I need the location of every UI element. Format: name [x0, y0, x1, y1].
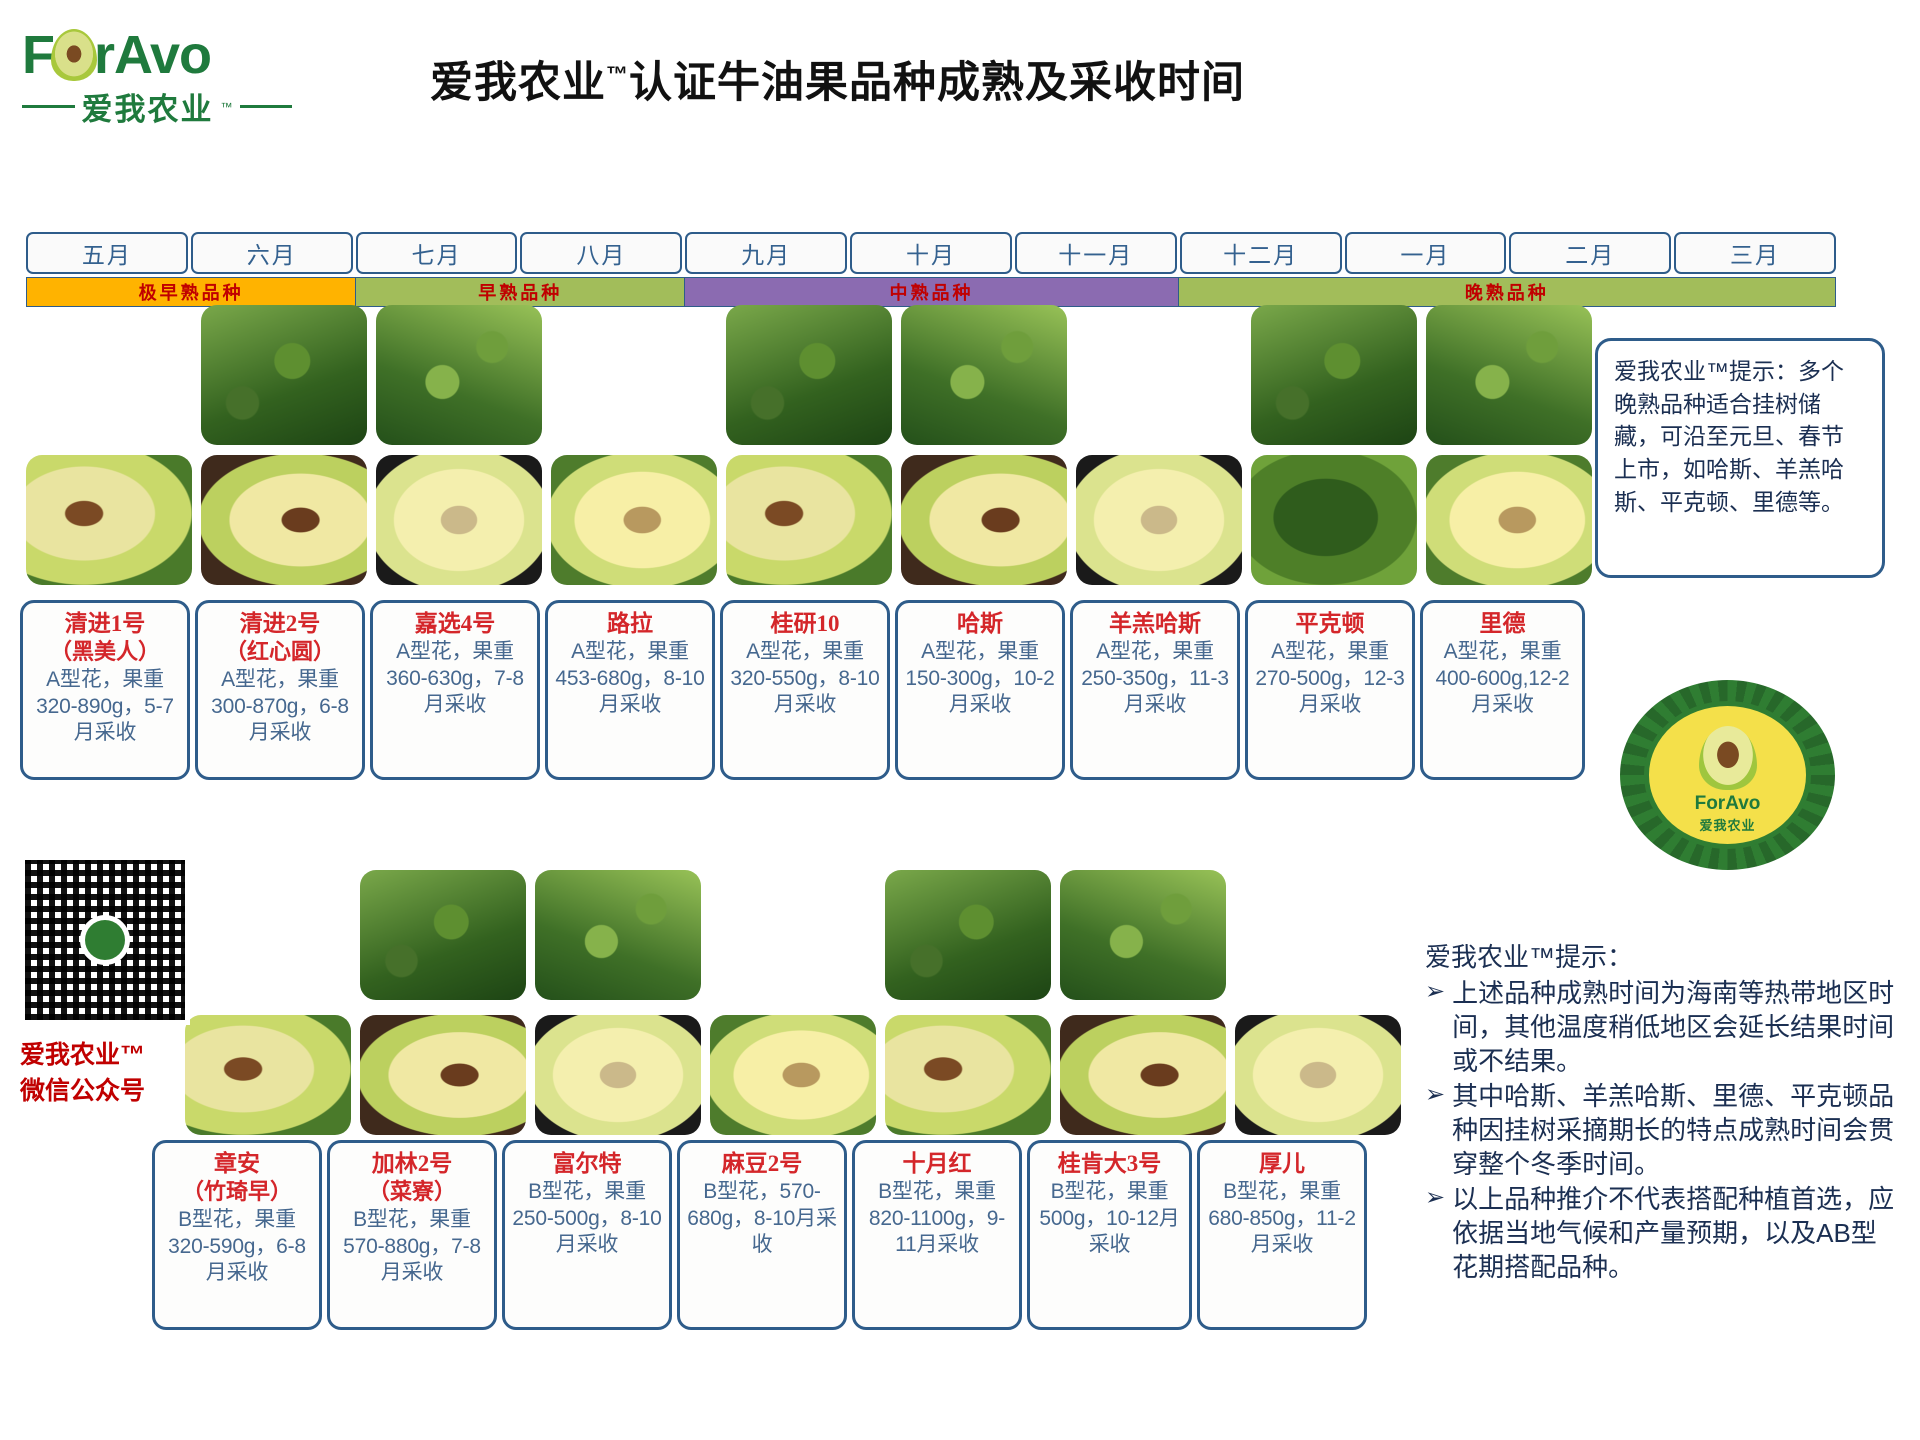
seal-cn-text: 爱我农业 [1699, 815, 1755, 834]
logo-tm-mark: ™ [221, 100, 233, 114]
variety-card[interactable]: 麻豆2号B型花，570-680g，8-10月采收 [677, 1140, 847, 1330]
variety-card-description: A型花，果重453-680g，8-10月采收 [554, 639, 706, 719]
qr-code-image[interactable] [20, 855, 190, 1025]
month-cell-4: 八月 [520, 232, 682, 274]
maturity-band-3: 中熟品种 [685, 278, 1178, 306]
avocado-icon [51, 29, 97, 81]
qr-caption-line2: 微信公众号 [20, 1071, 195, 1107]
variety-photo [1251, 455, 1417, 585]
variety-photo [201, 455, 367, 585]
bullet-arrow-icon: ➢ [1425, 1079, 1445, 1181]
row1-variety-cards: 清进1号（黑美人）A型花，果重320-890g，5-7月采收清进2号（红心圆）A… [20, 600, 1585, 780]
variety-card-description: A型花，果重150-300g，10-2月采收 [904, 639, 1056, 719]
page-title: 爱我农业™认证牛油果品种成熟及采收时间 [430, 48, 1490, 110]
variety-card-description: A型花，果重320-550g，8-10月采收 [729, 639, 881, 719]
variety-card-alias: （红心圆） [204, 639, 356, 665]
maturity-band-4: 晚熟品种 [1179, 278, 1835, 306]
variety-photo [726, 455, 892, 585]
variety-card-description: B型花，果重820-1100g，9-11月采收 [861, 1179, 1013, 1259]
tip-bottom-item-text: 其中哈斯、羊羔哈斯、里德、平克顿品种因挂树采摘期长的特点成熟时间会贯穿整个冬季时… [1452, 1079, 1895, 1181]
variety-photo [710, 1015, 876, 1135]
variety-photo [360, 870, 526, 1000]
variety-photo [376, 455, 542, 585]
variety-card[interactable]: 路拉A型花，果重453-680g，8-10月采收 [545, 600, 715, 780]
variety-photo [26, 305, 192, 445]
variety-card[interactable]: 桂肯大3号B型花，果重500g，10-12月采收 [1027, 1140, 1192, 1330]
variety-card-name: 加林2号 [336, 1150, 488, 1177]
variety-card[interactable]: 加林2号（菜寮）B型花，果重570-880g，7-8月采收 [327, 1140, 497, 1330]
variety-card[interactable]: 清进1号（黑美人）A型花，果重320-890g，5-7月采收 [20, 600, 190, 780]
variety-card[interactable]: 哈斯A型花，果重150-300g，10-2月采收 [895, 600, 1065, 780]
tip-box-top: 爱我农业™提示：多个晚熟品种适合挂树储藏，可沿至元旦、春节上市，如哈斯、羊羔哈斯… [1595, 338, 1885, 578]
seal-inner-disc: ForAvo 爱我农业 [1644, 701, 1812, 849]
variety-card-name: 嘉选4号 [379, 610, 531, 637]
variety-photo [1076, 305, 1242, 445]
variety-card-alias: （菜寮） [336, 1179, 488, 1205]
maturity-band-2: 早熟品种 [356, 278, 685, 306]
seal-wordmark: ForAvo [1695, 793, 1761, 815]
row1-tree-photos [26, 305, 1592, 445]
variety-photo [1426, 455, 1592, 585]
variety-photo [885, 870, 1051, 1000]
month-timeline: 五月六月七月八月九月十月十一月十二月一月二月三月 极早熟品种早熟品种中熟品种晚熟… [26, 232, 1836, 307]
variety-photo [1235, 1015, 1401, 1135]
tip-bottom-item: ➢以上品种推介不代表搭配种植首选，应依据当地气候和产量预期，以及AB型花期搭配品… [1425, 1182, 1895, 1284]
maturity-band-row: 极早熟品种早熟品种中熟品种晚熟品种 [26, 277, 1836, 307]
variety-photo [360, 1015, 526, 1135]
variety-photo [885, 1015, 1051, 1135]
variety-card-description: A型花，果重320-890g，5-7月采收 [29, 667, 181, 747]
variety-photo [901, 305, 1067, 445]
variety-photo [551, 455, 717, 585]
variety-card-description: B型花，570-680g，8-10月采收 [686, 1179, 838, 1259]
variety-photo [551, 305, 717, 445]
month-cell-11: 三月 [1674, 232, 1836, 274]
seal-outer-ring: ForAvo 爱我农业 [1620, 680, 1835, 870]
tip-box-top-text: 爱我农业™提示：多个晚熟品种适合挂树储藏，可沿至元旦、春节上市，如哈斯、羊羔哈斯… [1614, 358, 1844, 515]
variety-card-description: A型花，果重360-630g，7-8月采收 [379, 639, 531, 719]
variety-photo [535, 1015, 701, 1135]
variety-card[interactable]: 平克顿A型花，果重270-500g，12-3月采收 [1245, 600, 1415, 780]
variety-card-name: 清进2号 [204, 610, 356, 637]
tip-bottom-item-text: 上述品种成熟时间为海南等热带地区时间，其他温度稍低地区会延长结果时间或不结果。 [1452, 976, 1895, 1078]
variety-photo [1251, 305, 1417, 445]
variety-card-name: 平克顿 [1254, 610, 1406, 637]
month-cell-1: 五月 [26, 232, 188, 274]
logo-rule-left [22, 105, 75, 108]
variety-card-alias: （黑美人） [29, 639, 181, 665]
variety-card[interactable]: 富尔特B型花，果重250-500g，8-10月采收 [502, 1140, 672, 1330]
seal-avocado-icon [1699, 726, 1757, 790]
month-cell-9: 一月 [1345, 232, 1507, 274]
variety-card-description: A型花，果重400-600g,12-2月采收 [1429, 639, 1576, 719]
variety-card[interactable]: 嘉选4号A型花，果重360-630g，7-8月采收 [370, 600, 540, 780]
variety-card[interactable]: 厚儿B型花，果重680-850g，11-2月采收 [1197, 1140, 1367, 1330]
variety-card-name: 桂研10 [729, 610, 881, 637]
variety-card-name: 章安 [161, 1150, 313, 1177]
variety-card-name: 厚儿 [1206, 1150, 1358, 1177]
variety-card[interactable]: 羊羔哈斯A型花，果重250-350g，11-3月采收 [1070, 600, 1240, 780]
tip-bottom-list: ➢上述品种成熟时间为海南等热带地区时间，其他温度稍低地区会延长结果时间或不结果。… [1425, 976, 1895, 1284]
variety-card[interactable]: 里德A型花，果重400-600g,12-2月采收 [1420, 600, 1585, 780]
month-cell-2: 六月 [191, 232, 353, 274]
row2-tree-photos [185, 870, 1401, 1000]
variety-card-description: B型花，果重320-590g，6-8月采收 [161, 1207, 313, 1287]
month-cell-8: 十二月 [1180, 232, 1342, 274]
variety-card-name: 哈斯 [904, 610, 1056, 637]
variety-photo [1076, 455, 1242, 585]
variety-card[interactable]: 桂研10A型花，果重320-550g，8-10月采收 [720, 600, 890, 780]
variety-card-name: 十月红 [861, 1150, 1013, 1177]
variety-card-description: A型花，果重250-350g，11-3月采收 [1079, 639, 1231, 719]
variety-card-name: 路拉 [554, 610, 706, 637]
tip-bottom-item: ➢其中哈斯、羊羔哈斯、里德、平克顿品种因挂树采摘期长的特点成熟时间会贯穿整个冬季… [1425, 1079, 1895, 1181]
variety-photo [726, 305, 892, 445]
month-cell-3: 七月 [356, 232, 518, 274]
variety-photo [710, 870, 876, 1000]
variety-photo [901, 455, 1067, 585]
logo-wordmark: FrAvo [22, 28, 292, 82]
page-title-part1: 爱我农业 [430, 59, 606, 107]
variety-card[interactable]: 章安（竹琦早）B型花，果重320-590g，6-8月采收 [152, 1140, 322, 1330]
variety-photo [1060, 1015, 1226, 1135]
variety-card-description: B型花，果重250-500g，8-10月采收 [511, 1179, 663, 1259]
variety-card-name: 富尔特 [511, 1150, 663, 1177]
tip-bottom-item: ➢上述品种成熟时间为海南等热带地区时间，其他温度稍低地区会延长结果时间或不结果。 [1425, 976, 1895, 1078]
page-title-tm: ™ [606, 62, 629, 87]
row1-fruit-photos [26, 455, 1592, 585]
variety-photo [1426, 305, 1592, 445]
variety-card[interactable]: 十月红B型花，果重820-1100g，9-11月采收 [852, 1140, 1022, 1330]
tip-bottom-heading: 爱我农业™提示： [1425, 940, 1895, 974]
bullet-arrow-icon: ➢ [1425, 976, 1445, 1078]
month-cell-6: 十月 [850, 232, 1012, 274]
variety-card-name: 里德 [1429, 610, 1576, 637]
logo-subtitle: 爱我农业 ™ [22, 84, 292, 129]
variety-card-alias: （竹琦早） [161, 1179, 313, 1205]
row2-fruit-photos [185, 1015, 1401, 1135]
certification-seal: ForAvo 爱我农业 [1620, 680, 1835, 870]
logo-cn-text: 爱我农业 [82, 84, 214, 129]
variety-card-description: A型花，果重270-500g，12-3月采收 [1254, 639, 1406, 719]
logo-rule-right [240, 105, 293, 108]
variety-photo [376, 305, 542, 445]
variety-card-description: B型花，果重570-880g，7-8月采收 [336, 1207, 488, 1287]
variety-photo [185, 870, 351, 1000]
month-cell-5: 九月 [685, 232, 847, 274]
month-header-row: 五月六月七月八月九月十月十一月十二月一月二月三月 [26, 232, 1836, 274]
wechat-qr-block: 爱我农业™ 微信公众号 [20, 855, 195, 1107]
month-cell-10: 二月 [1509, 232, 1671, 274]
variety-photo [185, 1015, 351, 1135]
qr-caption-line1: 爱我农业™ [20, 1035, 195, 1071]
variety-card-name: 麻豆2号 [686, 1150, 838, 1177]
page-title-part2: 认证牛油果品种成熟及采收时间 [629, 59, 1245, 107]
variety-photo [26, 455, 192, 585]
variety-photo [1060, 870, 1226, 1000]
variety-card-name: 羊羔哈斯 [1079, 610, 1231, 637]
month-cell-7: 十一月 [1015, 232, 1177, 274]
tip-box-bottom: 爱我农业™提示： ➢上述品种成熟时间为海南等热带地区时间，其他温度稍低地区会延长… [1425, 940, 1895, 1285]
tip-bottom-item-text: 以上品种推介不代表搭配种植首选，应依据当地气候和产量预期，以及AB型花期搭配品种… [1452, 1182, 1895, 1284]
variety-card-description: B型花，果重680-850g，11-2月采收 [1206, 1179, 1358, 1259]
row2-variety-cards: 章安（竹琦早）B型花，果重320-590g，6-8月采收加林2号（菜寮）B型花，… [152, 1140, 1367, 1330]
variety-photo [1235, 870, 1401, 1000]
maturity-band-1: 极早熟品种 [27, 278, 356, 306]
variety-card-name: 清进1号 [29, 610, 181, 637]
variety-card-description: A型花，果重300-870g，6-8月采收 [204, 667, 356, 747]
variety-card[interactable]: 清进2号（红心圆）A型花，果重300-870g，6-8月采收 [195, 600, 365, 780]
variety-card-name: 桂肯大3号 [1036, 1150, 1183, 1177]
brand-logo: FrAvo 爱我农业 ™ [22, 28, 292, 138]
variety-photo [201, 305, 367, 445]
variety-card-description: B型花，果重500g，10-12月采收 [1036, 1179, 1183, 1259]
bullet-arrow-icon: ➢ [1425, 1182, 1445, 1284]
variety-photo [535, 870, 701, 1000]
